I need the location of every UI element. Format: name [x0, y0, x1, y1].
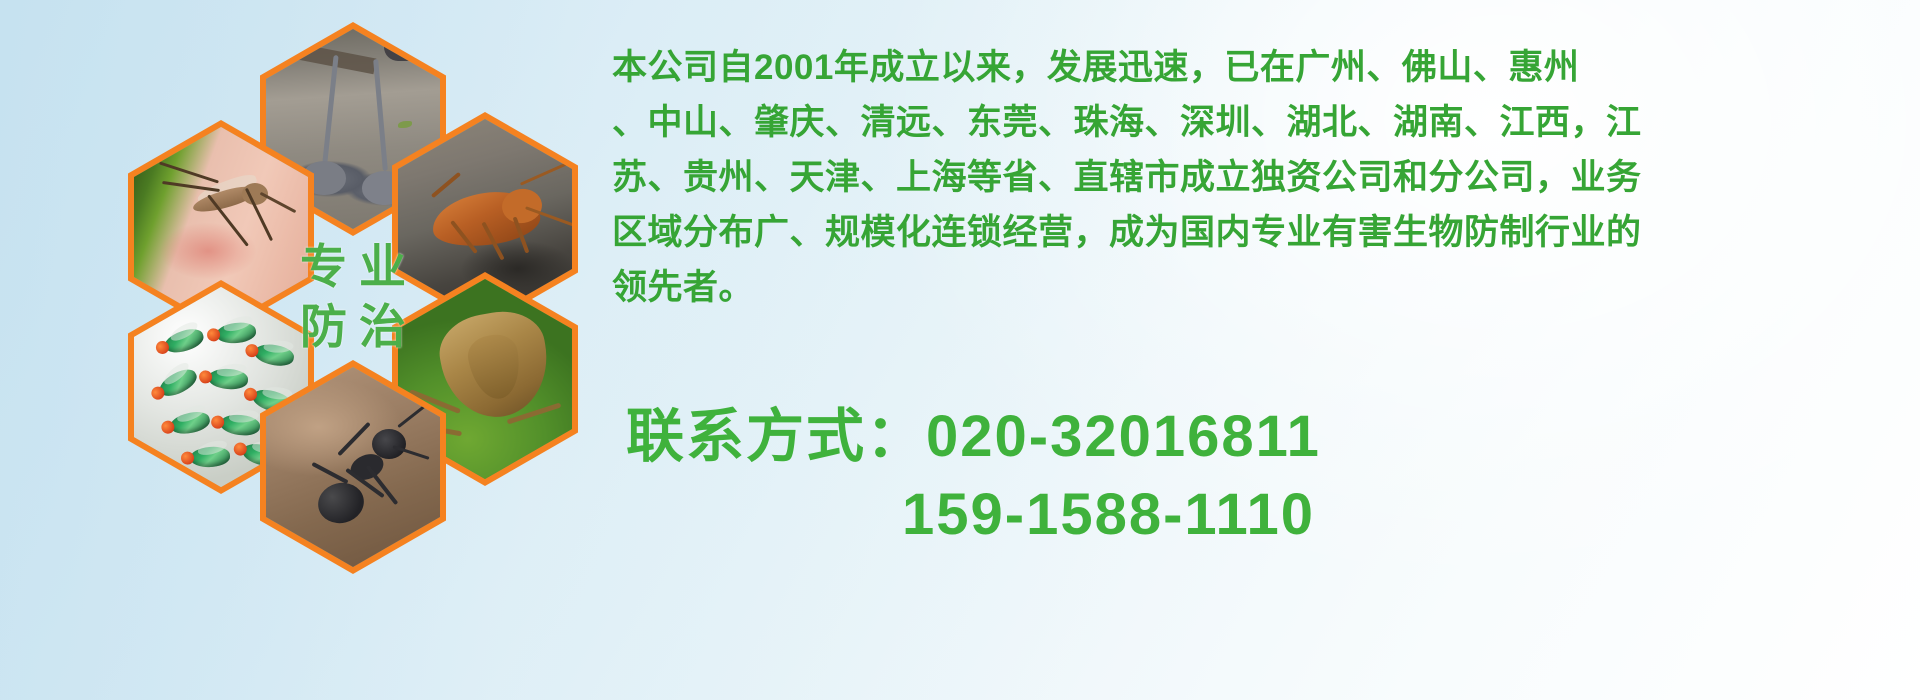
plank-shape	[266, 36, 376, 75]
intro-line-1: 本公司自2001年成立以来，发展迅速，已在广州、佛山、惠州	[612, 40, 1908, 95]
ant-gaster	[314, 478, 368, 528]
honeycomb-collage: 专业 防治	[86, 8, 586, 553]
contact-phone-landline[interactable]: 联系方式：020-32016811	[612, 398, 1321, 476]
ant-antenna-1	[397, 401, 430, 428]
rat-tail-right	[373, 59, 388, 171]
logo-slogan-line-2: 防治	[288, 297, 418, 357]
promo-banner: 专业 防治 本公司自2001年成立以来，发展迅速，已在广州、佛山、惠州 、中山、…	[0, 0, 1920, 700]
fly-4	[156, 365, 201, 401]
fly-2	[215, 321, 257, 345]
fly-5	[207, 368, 248, 391]
mosquito-leg-1	[159, 161, 219, 183]
cockroach-antenna-upper	[520, 159, 572, 185]
logo-slogan: 专业 防治	[260, 190, 446, 404]
logo-slogan-line-1: 专业	[288, 237, 418, 297]
ant-leg-1	[337, 422, 370, 456]
ant-leg-4	[311, 462, 348, 484]
fly-8	[219, 413, 261, 437]
fly-1	[162, 325, 206, 356]
contact-phone-mobile[interactable]: 159-1588-1110	[612, 476, 1321, 554]
rat-tail-left	[322, 55, 338, 163]
fly-9	[189, 446, 230, 469]
fly-7	[168, 409, 211, 437]
ant-head	[372, 429, 406, 459]
intro-line-3: 苏、贵州、天津、上海等省、直辖市成立独资公司和分公司，业务	[612, 150, 1908, 205]
intro-line-5: 领先者。	[612, 260, 1908, 315]
shoe-shape	[384, 31, 438, 61]
leaf-bit-2	[398, 121, 412, 128]
intro-line-4: 区域分布广、规模化连锁经营，成为国内专业有害生物防制行业的	[612, 205, 1908, 260]
intro-line-2: 、中山、肇庆、清远、东莞、珠海、深圳、湖北、湖南、江西，江	[612, 95, 1908, 150]
contact-block: 联系方式：020-32016811 159-1588-1110	[612, 398, 1321, 554]
skin-bite-mark	[160, 223, 256, 279]
company-intro: 本公司自2001年成立以来，发展迅速，已在广州、佛山、惠州 、中山、肇庆、清远、…	[612, 40, 1908, 315]
